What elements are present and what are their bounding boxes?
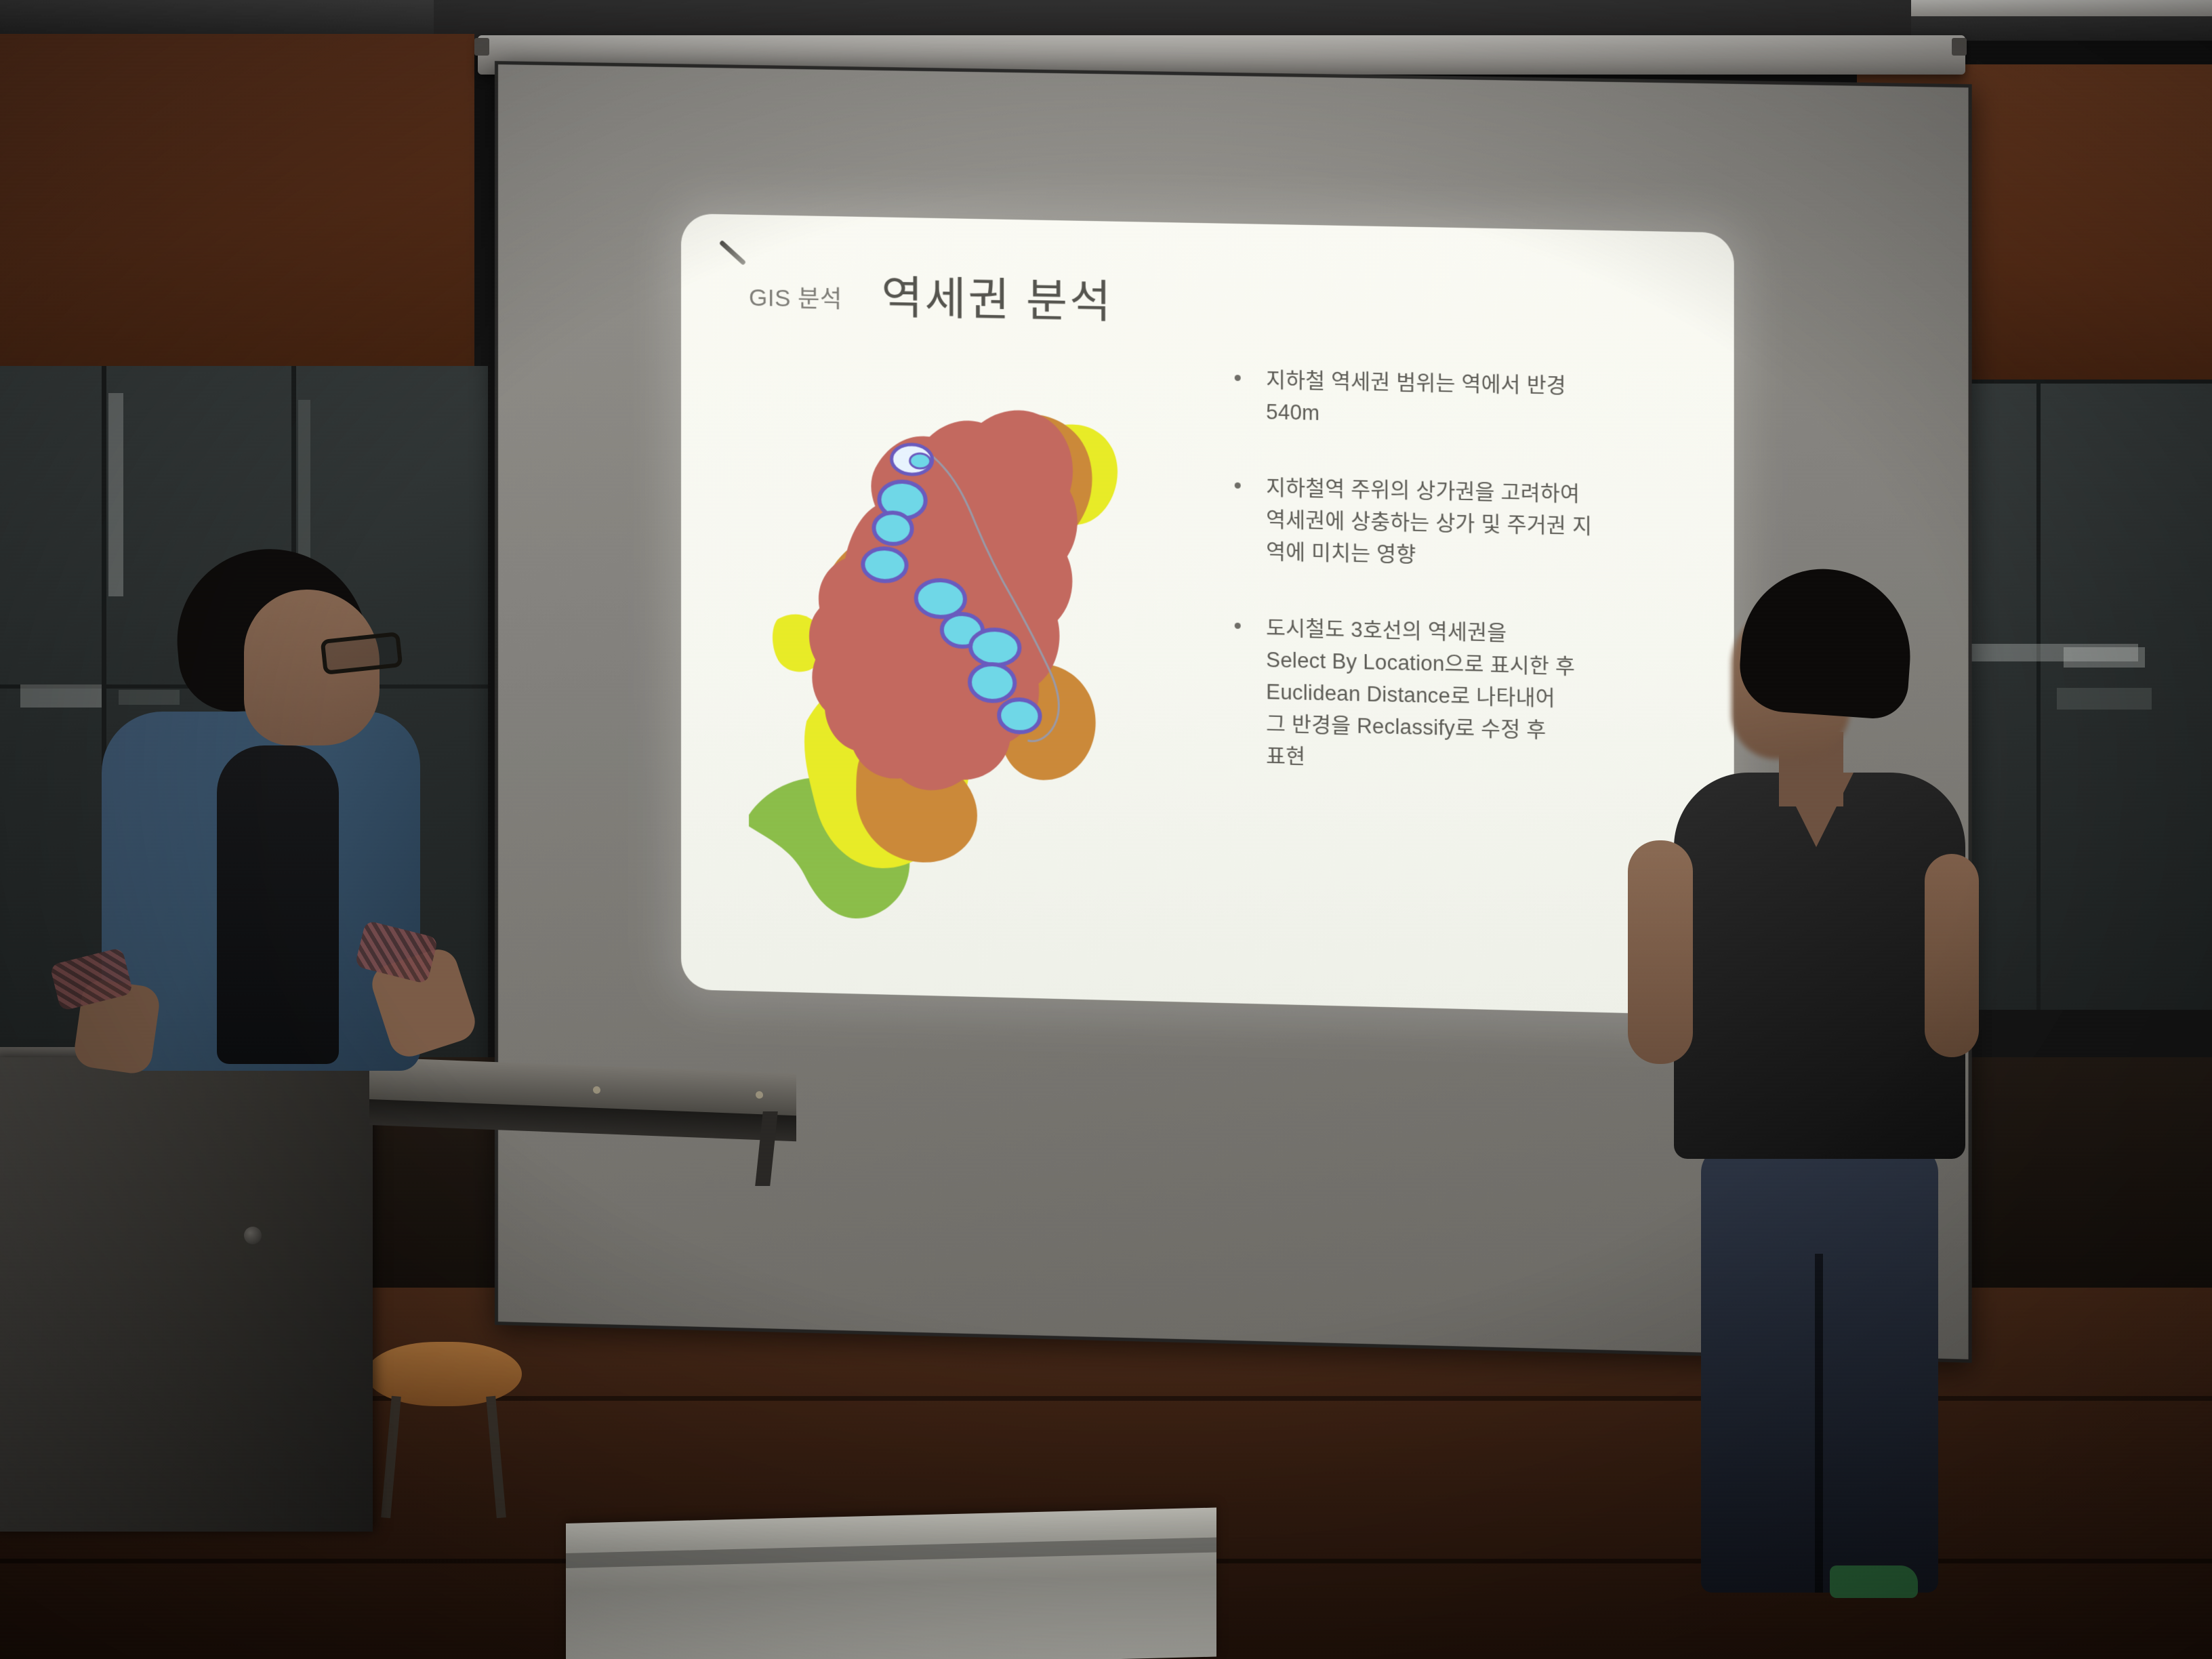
list-item: 지하철역 주위의 상가권을 고려하여 역세권에 상충하는 상가 및 주거권 지 … bbox=[1223, 471, 1696, 577]
list-item: 지하철 역세권 범위는 역에서 반경 540m bbox=[1223, 363, 1696, 437]
diagonal-slash-icon bbox=[719, 240, 746, 266]
hair bbox=[1737, 564, 1916, 721]
map-svg bbox=[742, 371, 1144, 943]
mullion bbox=[2036, 380, 2041, 1010]
wooden-chair bbox=[366, 1342, 542, 1504]
bullet-text: 도시철도 3호선의 역세권을 Select By Location으로 표시한 … bbox=[1266, 611, 1696, 781]
lectern-knob[interactable] bbox=[244, 1227, 262, 1244]
list-item: 도시철도 3호선의 역세권을 Select By Location으로 표시한 … bbox=[1223, 611, 1696, 782]
lecture-room-scene: GIS 분석 역세권 분석 bbox=[0, 0, 2212, 1659]
arm-right bbox=[1925, 854, 1979, 1057]
gis-distance-raster-map bbox=[742, 371, 1144, 943]
bullet-list: 지하철 역세권 범위는 역에서 반경 540m 지하철역 주위의 상가권을 고려… bbox=[1223, 363, 1696, 826]
black-tshirt bbox=[217, 745, 339, 1064]
lectern[interactable] bbox=[0, 1057, 373, 1532]
shelf-screw bbox=[756, 1091, 763, 1099]
bullet-text: 지하철역 주위의 상가권을 고려하여 역세권에 상충하는 상가 및 주거권 지 … bbox=[1266, 472, 1696, 577]
presenter-right bbox=[1654, 569, 2013, 1599]
bullet-dot-icon bbox=[1235, 483, 1241, 489]
chair-leg bbox=[486, 1396, 506, 1519]
slide-eyebrow: GIS 분석 bbox=[749, 279, 842, 315]
shelf-screw bbox=[593, 1086, 600, 1094]
chair-leg bbox=[381, 1396, 401, 1519]
leg-seam bbox=[1815, 1254, 1823, 1593]
bullet-dot-icon bbox=[1235, 622, 1241, 628]
wood-panel-upper-left bbox=[0, 34, 474, 373]
roller-cap-left bbox=[474, 38, 489, 56]
shoe bbox=[1830, 1565, 1918, 1598]
front-desk bbox=[566, 1508, 1216, 1659]
window-reflection bbox=[298, 400, 310, 569]
presenter-left bbox=[14, 549, 529, 1078]
arm-left bbox=[1628, 840, 1693, 1064]
bullet-dot-icon bbox=[1235, 375, 1241, 381]
page-title: 역세권 분석 bbox=[881, 262, 1113, 331]
window-reflection bbox=[2064, 647, 2145, 668]
chair-seat bbox=[366, 1342, 522, 1406]
bullet-text: 지하철 역세권 범위는 역에서 반경 540m bbox=[1266, 364, 1696, 436]
window-reflection bbox=[2057, 688, 2152, 710]
projected-slide: GIS 분석 역세권 분석 bbox=[681, 213, 1734, 1016]
roller-cap-right bbox=[1952, 38, 1967, 56]
glasses bbox=[321, 632, 403, 675]
